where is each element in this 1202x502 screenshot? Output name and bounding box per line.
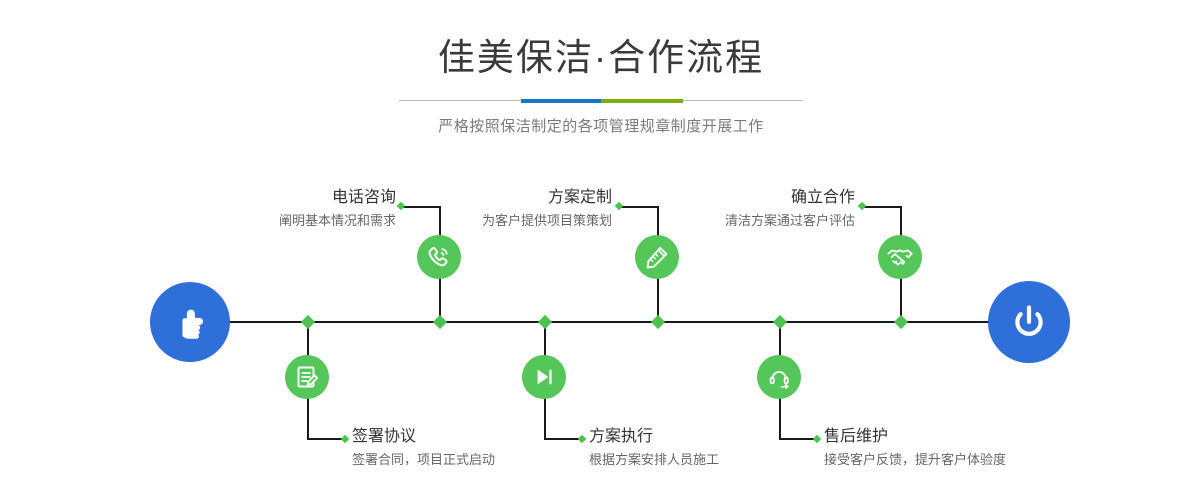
step-title-3: 方案定制 [374,188,612,208]
connector-tip-5 [858,202,866,210]
connector-horizontal-5 [863,206,901,208]
step-node-5[interactable] [878,235,922,279]
spine-marker-4 [538,315,552,329]
spine-marker-1 [433,315,447,329]
step-node-3[interactable] [635,235,679,279]
spine-marker-2 [301,315,315,329]
step-node-1[interactable] [417,235,461,279]
step-title-2: 签署协议 [352,427,582,447]
step-label-4: 方案执行 根据方案安排人员施工 [589,427,819,470]
connector-tip-2 [341,435,349,443]
power-button-icon [1006,299,1052,345]
step-label-1: 电话咨询 阐明基本情况和需求 [158,188,396,231]
flow-start-node[interactable] [150,282,230,362]
step-desc-4: 根据方案安排人员施工 [589,450,819,470]
spine-marker-5 [894,315,908,329]
step-node-6[interactable] [757,355,801,399]
pencil-ruler-icon [644,244,671,271]
flow-end-node[interactable] [988,281,1070,363]
step-desc-3: 为客户提供项目策策划 [374,211,612,231]
phone-call-icon [425,243,453,271]
step-desc-6: 接受客户反馈，提升客户体验度 [824,450,1084,470]
step-label-2: 签署协议 签署合同，项目正式启动 [352,427,582,470]
step-title-6: 售后维护 [824,427,1084,447]
support-headset-icon [766,364,793,391]
step-desc-1: 阐明基本情况和需求 [158,211,396,231]
step-node-4[interactable] [522,355,566,399]
step-label-3: 方案定制 为客户提供项目策策划 [374,188,612,231]
spine-marker-6 [773,315,787,329]
process-flow-page: 佳美保洁·合作流程 严格按照保洁制定的各项管理规章制度开展工作 [0,0,1202,502]
connector-horizontal-2 [307,438,345,440]
play-skip-icon [531,364,557,390]
step-title-4: 方案执行 [589,427,819,447]
flow-diagram: 电话咨询 阐明基本情况和需求 签署协议 签署合同，项目正式启动 [0,0,1202,502]
step-desc-5: 清洁方案通过客户评估 [617,211,855,231]
step-title-5: 确立合作 [617,188,855,208]
step-label-6: 售后维护 接受客户反馈，提升客户体验度 [824,427,1084,470]
pointing-hand-icon [168,300,212,344]
step-title-1: 电话咨询 [158,188,396,208]
handshake-icon [886,243,914,271]
document-sign-icon [294,364,320,390]
step-node-2[interactable] [285,355,329,399]
timeline-spine [228,321,998,323]
step-desc-2: 签署合同，项目正式启动 [352,450,582,470]
spine-marker-3 [651,315,665,329]
step-label-5: 确立合作 清洁方案通过客户评估 [617,188,855,231]
